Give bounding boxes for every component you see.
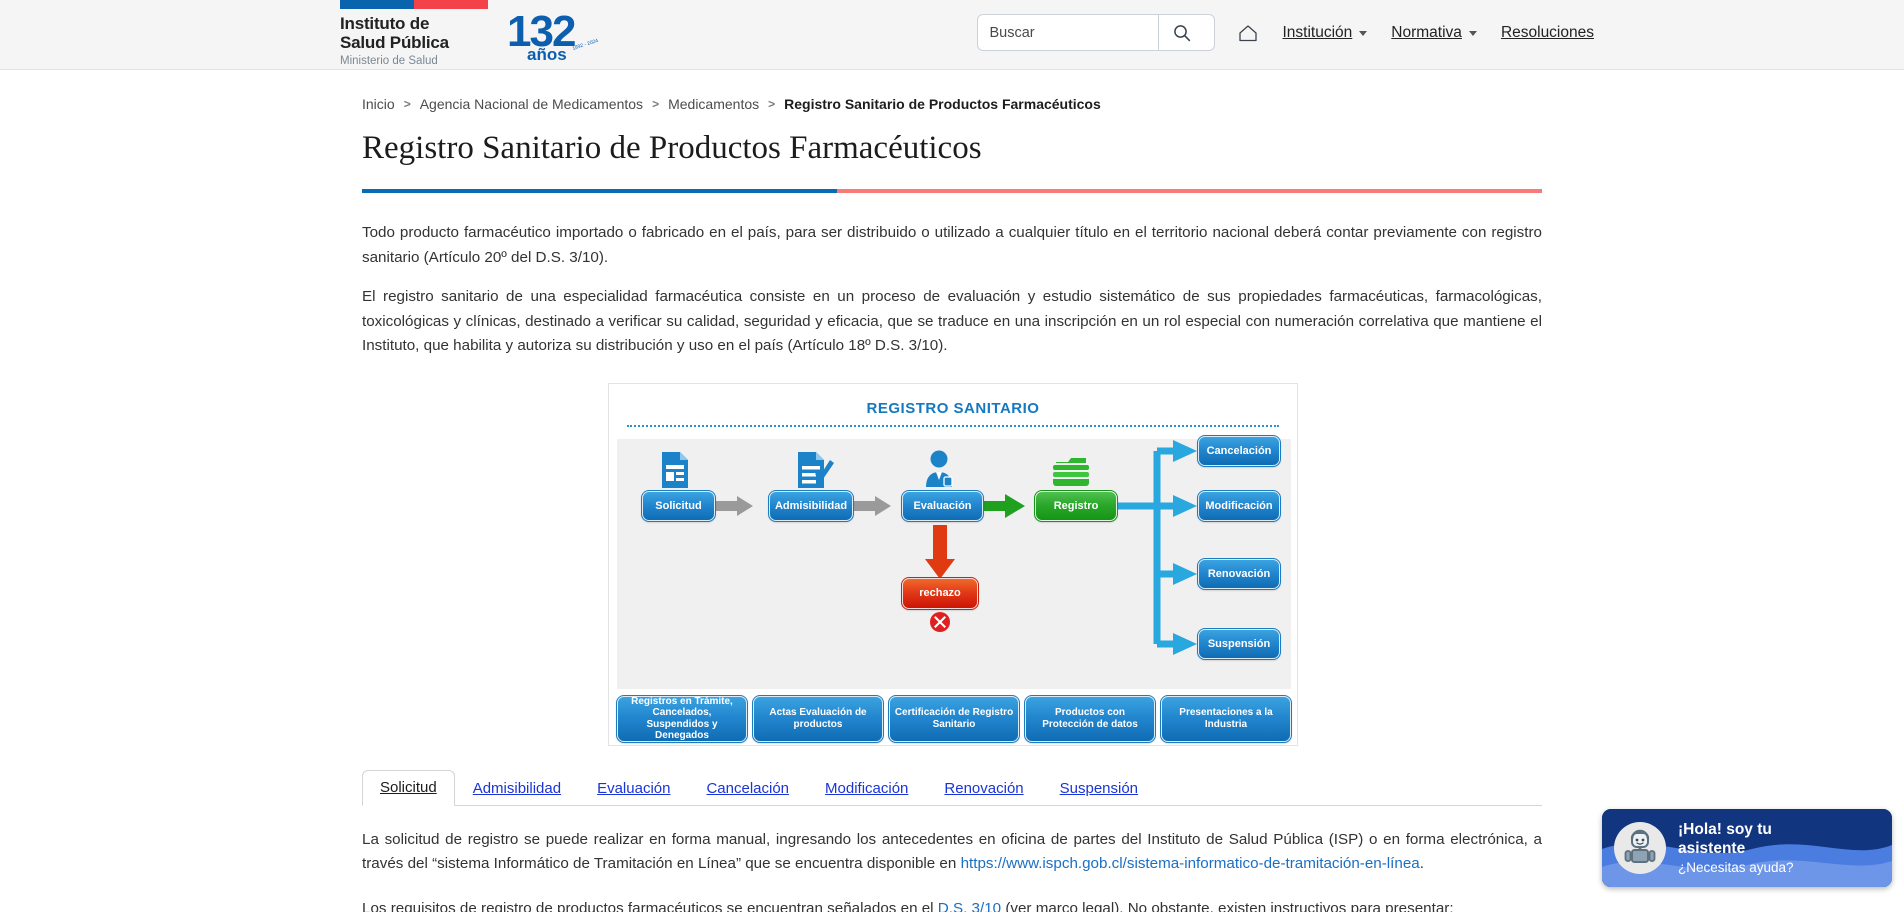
diagram-button-registros-tramite[interactable]: Registros en Trámite, Cancelados, Suspen… [617, 696, 747, 742]
tab-evaluacion-label: Evaluación [597, 780, 670, 797]
diagram-button-actas-evaluacion[interactable]: Actas Evaluación de productos [753, 696, 883, 742]
intro-paragraph-1: Todo producto farmacéutico importado o f… [362, 221, 1542, 270]
diagram-button-proteccion-datos[interactable]: Productos con Protección de datos [1025, 696, 1155, 742]
chat-assistant-widget[interactable]: ¡Hola! soy tu asistente ¿Necesitas ayuda… [1590, 790, 1904, 912]
tab-suspension[interactable]: Suspensión [1042, 771, 1156, 806]
error-x-icon [929, 611, 951, 638]
nav-item-normativa[interactable]: Normativa [1391, 24, 1477, 42]
arrow-evaluacion-to-rechazo [925, 525, 955, 579]
nav-item-institucion-label: Institución [1283, 24, 1353, 42]
tab-cancelacion[interactable]: Cancelación [688, 771, 807, 806]
breadcrumb-separator: > [404, 97, 411, 111]
flow-node-admisibilidad-label: Admisibilidad [775, 500, 847, 513]
flow-node-registro[interactable]: Registro [1035, 491, 1117, 521]
robot-avatar-icon [1622, 829, 1658, 867]
document-icon [659, 451, 691, 494]
solicitud-p2-text-after: (ver marco legal). No obstante, existen … [1001, 900, 1453, 912]
arrow-heads-outcomes [1173, 440, 1197, 655]
tab-suspension-label: Suspensión [1060, 780, 1138, 797]
breadcrumb-item-agencia[interactable]: Agencia Nacional de Medicamentos [420, 96, 643, 112]
tab-renovacion-label: Renovación [944, 780, 1023, 797]
flow-node-solicitud-label: Solicitud [655, 500, 701, 513]
search-input[interactable] [978, 15, 1158, 50]
outcome-node-renovacion-label: Renovación [1208, 568, 1270, 581]
brand-name: Instituto de Salud Pública [340, 14, 488, 52]
tab-panel-solicitud: La solicitud de registro se puede realiz… [362, 828, 1542, 912]
breadcrumb-item-medicamentos[interactable]: Medicamentos [668, 96, 759, 112]
outcome-node-suspension-label: Suspensión [1208, 638, 1270, 651]
search-icon [1172, 23, 1192, 43]
brand-subtitle: Ministerio de Salud [340, 55, 488, 67]
chat-assistant-texts: ¡Hola! soy tu asistente ¿Necesitas ayuda… [1678, 820, 1828, 876]
breadcrumb-item-inicio[interactable]: Inicio [362, 96, 395, 112]
arrow-registro-to-outcomes [1117, 451, 1177, 644]
tab-renovacion[interactable]: Renovación [926, 771, 1041, 806]
outcome-node-modificacion-label: Modificación [1205, 500, 1272, 513]
person-evaluator-icon [922, 449, 960, 494]
diagram-button-registros-tramite-label: Registros en Trámite, Cancelados, Suspen… [621, 696, 743, 742]
outcome-node-modificacion[interactable]: Modificación [1198, 491, 1280, 521]
flow-node-solicitud[interactable]: Solicitud [642, 491, 715, 521]
outcome-node-cancelacion[interactable]: Cancelación [1198, 436, 1280, 466]
diagram-button-presentaciones[interactable]: Presentaciones a la Industria [1161, 696, 1291, 742]
registro-sanitario-diagram: REGISTRO SANITARIO [608, 383, 1298, 746]
chat-assistant-title: ¡Hola! soy tu asistente [1678, 820, 1828, 858]
breadcrumb-separator: > [652, 97, 659, 111]
diagram-bottom-buttons: Registros en Trámite, Cancelados, Suspen… [617, 696, 1291, 742]
flow-node-registro-label: Registro [1054, 500, 1099, 513]
flag-blue [340, 0, 414, 9]
arrow-solicitud-to-admisibilidad [715, 496, 753, 516]
site-header: Instituto de Salud Pública Ministerio de… [0, 0, 1904, 70]
arrow-admisibilidad-to-evaluacion [853, 496, 891, 516]
svg-text:1892 - 2024: 1892 - 2024 [572, 38, 599, 52]
breadcrumb: Inicio > Agencia Nacional de Medicamento… [362, 96, 1542, 112]
diagram-button-actas-evaluacion-label: Actas Evaluación de productos [757, 707, 879, 730]
flag-red [414, 0, 488, 9]
chile-flag-bar [340, 0, 488, 9]
diagram-title: REGISTRO SANITARIO [609, 384, 1297, 417]
intro-paragraph-2: El registro sanitario de una especialida… [362, 285, 1542, 359]
search-box[interactable] [977, 14, 1215, 51]
tab-modificacion[interactable]: Modificación [807, 771, 926, 806]
diagram-button-certificacion-label: Certificación de Registro Sanitario [893, 707, 1015, 730]
chat-assistant-subtitle: ¿Necesitas ayuda? [1678, 859, 1828, 876]
tramitacion-en-linea-link[interactable]: https://www.ispch.gob.cl/sistema-informa… [961, 855, 1420, 872]
tab-admisibilidad[interactable]: Admisibilidad [455, 771, 579, 806]
ds-3-10-link[interactable]: D.S. 3/10 [938, 900, 1001, 912]
flow-node-rechazo-label: rechazo [919, 587, 961, 600]
title-divider-red [837, 189, 1542, 193]
flow-node-rechazo[interactable]: rechazo [902, 578, 978, 609]
anniversary-132-icon: 132 años 1892 - 2024 [505, 6, 605, 64]
diagram-dotted-divider [627, 425, 1279, 427]
chevron-down-icon [1469, 31, 1477, 36]
home-link[interactable] [1237, 23, 1259, 43]
document-check-icon [795, 451, 837, 496]
nav-item-institucion[interactable]: Institución [1283, 24, 1368, 42]
title-divider [362, 189, 1542, 193]
tab-evaluacion[interactable]: Evaluación [579, 771, 688, 806]
solicitud-paragraph-1: La solicitud de registro se puede realiz… [362, 828, 1542, 877]
flow-node-evaluacion-label: Evaluación [913, 500, 971, 513]
tab-modificacion-label: Modificación [825, 780, 908, 797]
home-icon [1237, 23, 1259, 43]
brand-logo[interactable]: Instituto de Salud Pública Ministerio de… [340, 0, 488, 67]
breadcrumb-item-current: Registro Sanitario de Productos Farmacéu… [784, 96, 1101, 112]
avatar [1614, 822, 1666, 874]
tab-admisibilidad-label: Admisibilidad [473, 780, 561, 797]
flow-node-evaluacion[interactable]: Evaluación [902, 491, 983, 521]
chevron-down-icon [1359, 31, 1367, 36]
chat-assistant-card[interactable]: ¡Hola! soy tu asistente ¿Necesitas ayuda… [1602, 809, 1892, 887]
tab-cancelacion-label: Cancelación [706, 780, 789, 797]
nav-item-resoluciones-label: Resoluciones [1501, 24, 1594, 42]
diagram-canvas: Solicitud Admisibilidad Evaluación Regis… [617, 439, 1291, 689]
anniversary-logo: 132 años 1892 - 2024 [505, 6, 605, 64]
solicitud-p2-text-before: Los requisitos de registro de productos … [362, 900, 938, 912]
folder-stack-icon [1050, 453, 1092, 492]
page-title: Registro Sanitario de Productos Farmacéu… [362, 130, 1542, 167]
outcome-node-suspension[interactable]: Suspensión [1198, 629, 1280, 659]
diagram-button-proteccion-datos-label: Productos con Protección de datos [1029, 707, 1151, 730]
diagram-button-presentaciones-label: Presentaciones a la Industria [1165, 707, 1287, 730]
diagram-button-certificacion[interactable]: Certificación de Registro Sanitario [889, 696, 1019, 742]
title-divider-blue [362, 189, 837, 193]
outcome-node-cancelacion-label: Cancelación [1207, 445, 1272, 458]
tab-solicitud[interactable]: Solicitud [362, 770, 455, 806]
tab-bar: Solicitud Admisibilidad Evaluación Cance… [362, 768, 1542, 806]
breadcrumb-separator: > [768, 97, 775, 111]
tab-solicitud-label: Solicitud [380, 779, 437, 796]
solicitud-p1-text-after: . [1420, 855, 1424, 872]
arrow-evaluacion-to-registro [983, 494, 1025, 518]
header-nav: Institución Normativa Resoluciones [977, 14, 1595, 51]
nav-item-resoluciones[interactable]: Resoluciones [1501, 24, 1594, 42]
outcome-node-renovacion[interactable]: Renovación [1198, 559, 1280, 589]
nav-item-normativa-label: Normativa [1391, 24, 1462, 42]
solicitud-paragraph-2: Los requisitos de registro de productos … [362, 897, 1542, 912]
flow-node-admisibilidad[interactable]: Admisibilidad [769, 491, 853, 521]
search-button[interactable] [1158, 15, 1206, 50]
svg-text:años: años [527, 45, 567, 64]
